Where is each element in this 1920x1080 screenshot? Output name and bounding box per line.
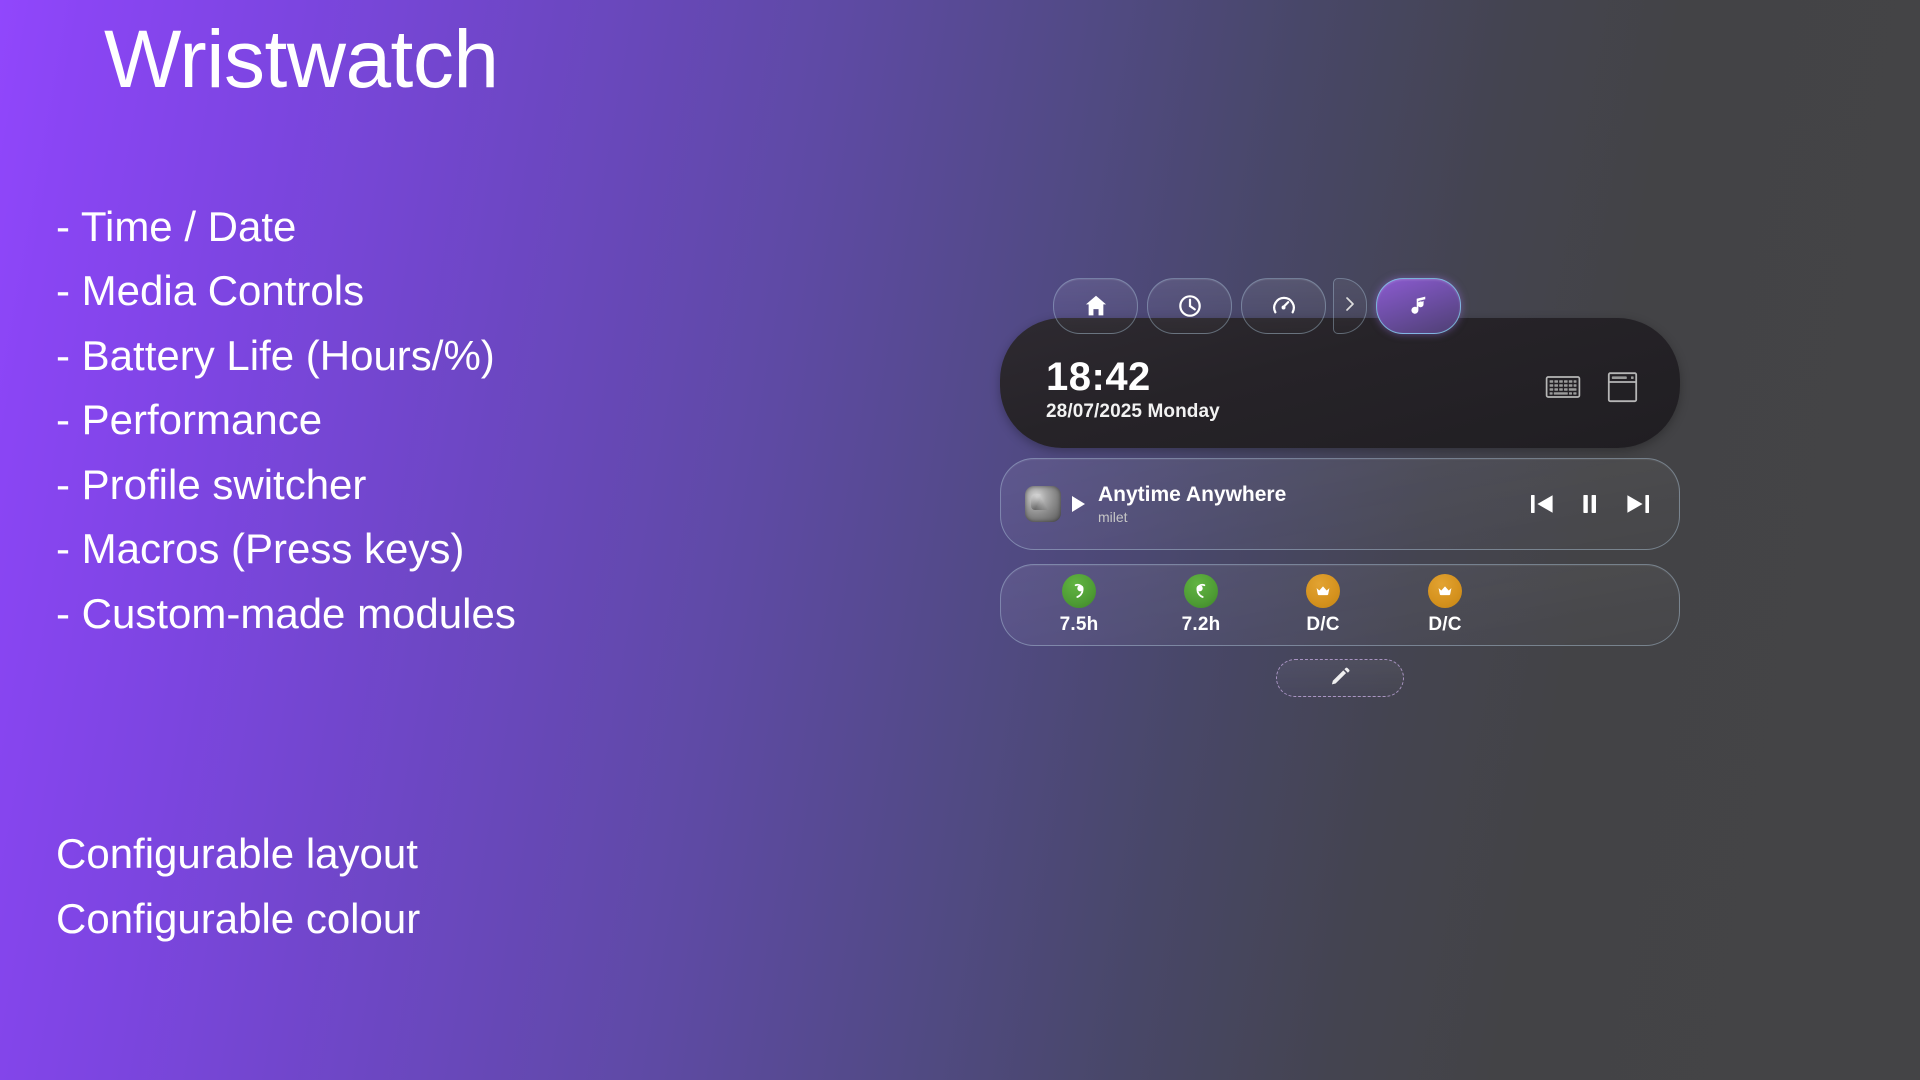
clock-readout: 18:42 28/07/2025 Monday bbox=[1046, 343, 1220, 423]
clock-shortcut-group bbox=[1545, 359, 1638, 408]
album-art bbox=[1025, 486, 1061, 522]
home-icon bbox=[1082, 292, 1110, 320]
list-item: - Custom-made modules bbox=[56, 582, 516, 646]
media-player-card: Anytime Anywhere milet bbox=[1000, 458, 1680, 550]
battery-item-charging-case-2[interactable]: D/C bbox=[1395, 574, 1495, 636]
speedometer-icon bbox=[1270, 292, 1298, 320]
closing-statements: Configurable layout Configurable colour bbox=[56, 822, 420, 951]
crown-icon bbox=[1428, 574, 1462, 608]
clock-icon bbox=[1176, 292, 1204, 320]
tab-music[interactable] bbox=[1376, 278, 1461, 334]
presentation-slide: Wristwatch - Time / Date - Media Control… bbox=[0, 0, 1920, 1080]
earbud-left-icon bbox=[1062, 574, 1096, 608]
list-item: - Media Controls bbox=[56, 259, 516, 323]
battery-value: 7.2h bbox=[1182, 614, 1221, 636]
edit-row bbox=[1000, 659, 1680, 697]
play-triangle-icon bbox=[1072, 496, 1085, 512]
feature-list: - Time / Date - Media Controls - Battery… bbox=[56, 195, 516, 646]
skip-next-icon[interactable] bbox=[1623, 489, 1653, 519]
list-item: - Performance bbox=[56, 388, 516, 452]
list-item: - Profile switcher bbox=[56, 453, 516, 517]
media-controls bbox=[1527, 489, 1653, 519]
edit-layout-button[interactable] bbox=[1276, 659, 1404, 697]
tab-home[interactable] bbox=[1053, 278, 1138, 334]
tab-performance[interactable] bbox=[1241, 278, 1326, 334]
track-title: Anytime Anywhere bbox=[1098, 483, 1286, 507]
chevron-right-icon bbox=[1342, 293, 1358, 320]
window-icon[interactable] bbox=[1607, 371, 1638, 408]
closing-line: Configurable layout bbox=[56, 822, 420, 887]
widget-tab-bar bbox=[1053, 278, 1680, 340]
battery-value: D/C bbox=[1428, 614, 1461, 636]
pause-icon[interactable] bbox=[1579, 489, 1601, 519]
tab-clock[interactable] bbox=[1147, 278, 1232, 334]
clock-date: 28/07/2025 Monday bbox=[1046, 401, 1220, 423]
keyboard-icon[interactable] bbox=[1545, 373, 1581, 406]
clock-time: 18:42 bbox=[1046, 357, 1220, 397]
earbud-right-icon bbox=[1184, 574, 1218, 608]
wristwatch-widget: 18:42 28/07/2025 Monday bbox=[1000, 278, 1680, 697]
list-item: - Time / Date bbox=[56, 195, 516, 259]
battery-status-card: 7.5h 7.2h D/C bbox=[1000, 564, 1680, 646]
battery-value: D/C bbox=[1306, 614, 1339, 636]
track-artist: milet bbox=[1098, 509, 1286, 525]
closing-line: Configurable colour bbox=[56, 887, 420, 952]
track-info: Anytime Anywhere milet bbox=[1098, 483, 1286, 525]
pencil-icon bbox=[1329, 665, 1351, 692]
list-item: - Macros (Press keys) bbox=[56, 517, 516, 581]
battery-item-left-earbud[interactable]: 7.5h bbox=[1029, 574, 1129, 636]
crown-icon bbox=[1306, 574, 1340, 608]
battery-item-charging-case-1[interactable]: D/C bbox=[1273, 574, 1373, 636]
page-title: Wristwatch bbox=[104, 16, 498, 105]
skip-previous-icon[interactable] bbox=[1527, 489, 1557, 519]
music-note-icon bbox=[1405, 293, 1432, 320]
battery-item-right-earbud[interactable]: 7.2h bbox=[1151, 574, 1251, 636]
slide-text-column: Wristwatch - Time / Date - Media Control… bbox=[0, 0, 820, 1080]
list-item: - Battery Life (Hours/%) bbox=[56, 324, 516, 388]
tab-overflow-button[interactable] bbox=[1333, 278, 1367, 334]
battery-value: 7.5h bbox=[1060, 614, 1099, 636]
